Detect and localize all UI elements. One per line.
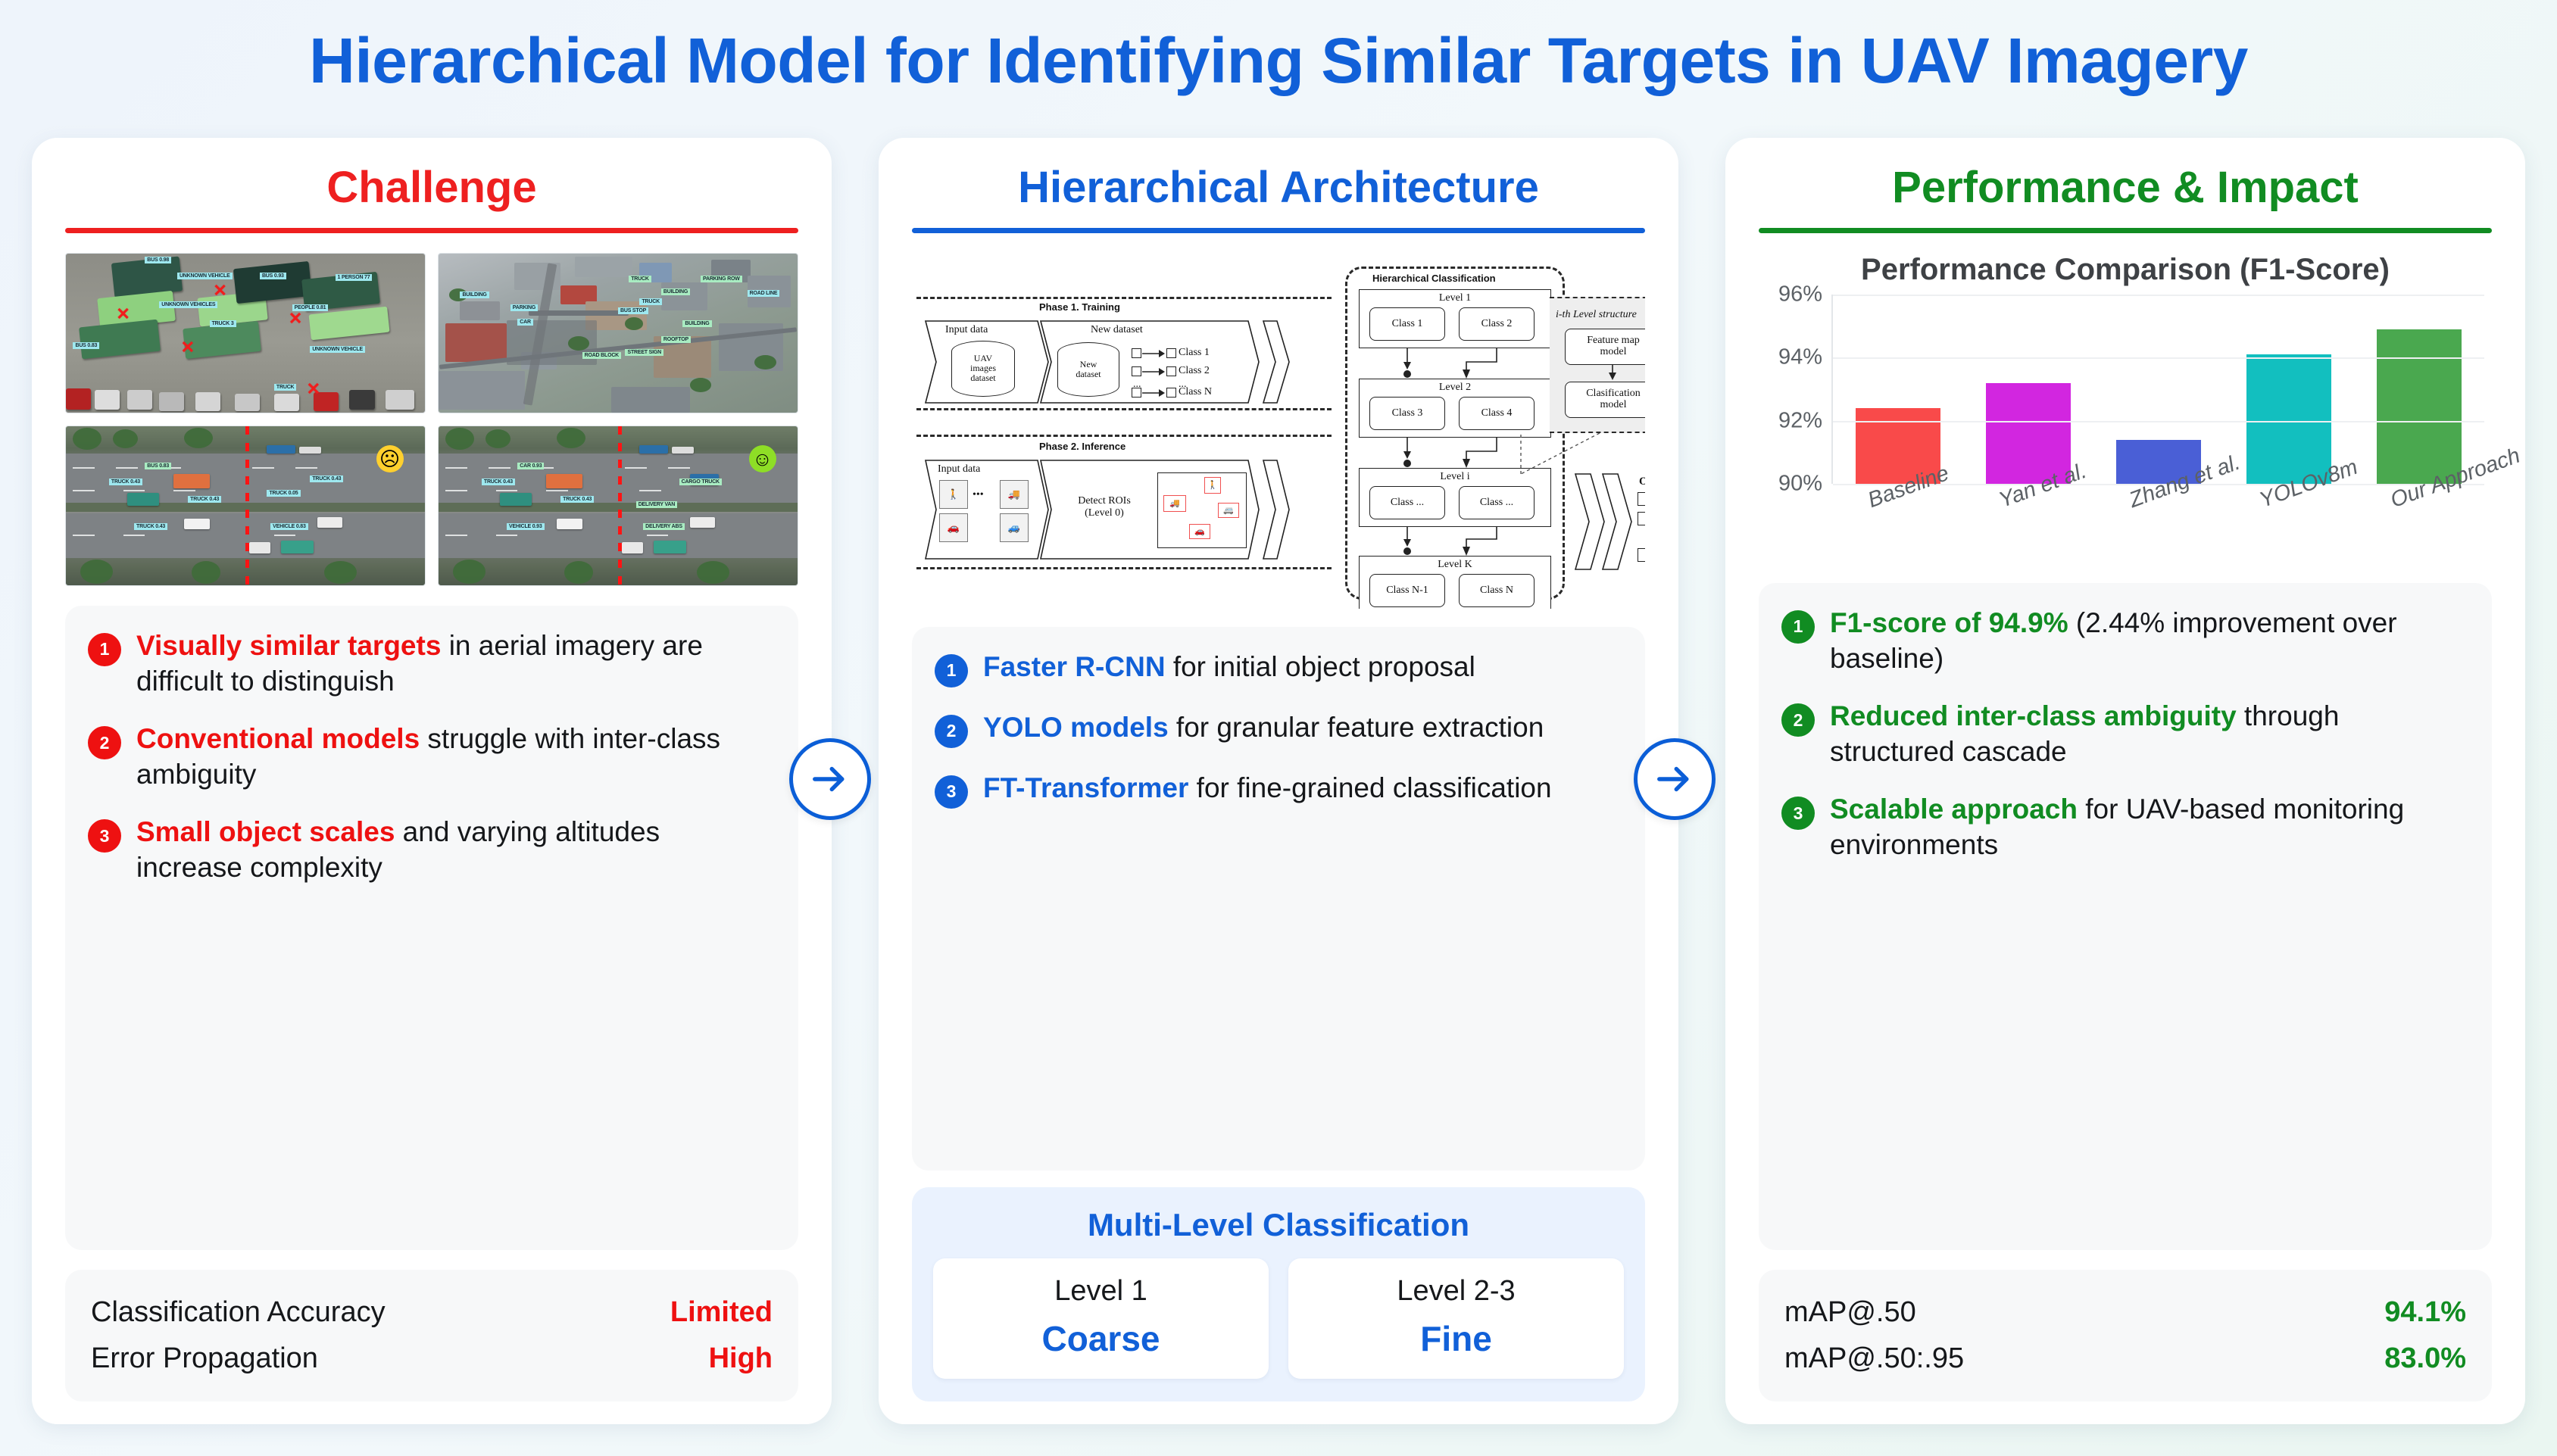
panel-challenge-rule	[65, 228, 798, 233]
icon-ellipsis: •••	[973, 489, 984, 501]
level-k-class-2: Class N	[1459, 574, 1535, 607]
class-square	[1132, 366, 1141, 376]
detection-tag: BUS STOP	[618, 307, 648, 314]
panel-performance-title: Performance & Impact	[1759, 165, 2492, 223]
bullet-number-badge: 1	[935, 654, 968, 687]
panel-architecture: Hierarchical Architecture Phase 1. Train…	[879, 138, 1678, 1424]
chart-y-tick: 92%	[1778, 408, 1833, 433]
uav-dataset-cylinder: UAVimagesdataset	[951, 341, 1015, 397]
performance-bullet-3: 3 Scalable approach for UAV-based monito…	[1781, 792, 2466, 862]
bullet-number-badge: 3	[88, 819, 121, 853]
chart-gridline	[1833, 295, 2484, 296]
class-square	[1166, 348, 1176, 358]
bullet-strong: YOLO models	[983, 712, 1169, 743]
detection-tag: BUILDING	[661, 288, 690, 295]
rejection-x-icon: ✕	[116, 306, 130, 323]
detection-tag: TRUCK	[639, 298, 662, 305]
phase1-label: Phase 1. Training	[1039, 301, 1120, 313]
architecture-bullet-3: 3 FT-Transformer for fine-grained classi…	[935, 771, 1619, 809]
roi-box: 🚶	[1204, 477, 1221, 494]
output-chevron-2	[1601, 472, 1634, 571]
bullet-strong: Visually similar targets	[136, 630, 441, 661]
ith-level-link-dotted	[1510, 433, 1601, 475]
bullet-number-badge: 3	[1781, 797, 1815, 830]
detection-tag: TRUCK 0.43	[134, 523, 167, 530]
performance-chart: Performance Comparison (F1-Score) 90%92%…	[1759, 253, 2492, 571]
chart-gridline	[1833, 421, 2484, 422]
phase1-out-chevron	[1262, 320, 1292, 404]
mlc-cards: Level 1 Coarse Level 2-3 Fine	[933, 1258, 1624, 1379]
bullet-strong: Small object scales	[136, 816, 395, 847]
bullet-text: Small object scales and varying altitude…	[136, 815, 773, 885]
stat-label: Classification Accuracy	[91, 1296, 386, 1329]
detection-tag: TRUCK 3	[210, 320, 236, 327]
stat-row: mAP@.50 94.1%	[1784, 1289, 2466, 1336]
feature-map-model-box: Feature mapmodel	[1565, 329, 1645, 365]
detection-tag: ROOFTOP	[661, 336, 691, 343]
page-title: Hierarchical Model for Identifying Simil…	[309, 24, 2248, 98]
bullet-strong: F1-score of 94.9%	[1830, 607, 2068, 638]
parking-lot-detections: BUS 0.98 UNKNOWN VEHICLE BUS 0.93 1 PERS…	[65, 253, 426, 413]
input-data-label-1: Input data	[945, 324, 988, 336]
connector-challenge-to-architecture[interactable]	[789, 738, 871, 820]
new-dataset-label: New dataset	[1091, 324, 1143, 336]
detection-tag: TRUCK 0.43	[188, 496, 221, 503]
level1-to-level2-arrows	[1397, 348, 1518, 380]
connector-architecture-to-performance[interactable]	[1634, 738, 1716, 820]
architecture-diagram: Phase 1. Training Input data UAVimagesda…	[912, 253, 1645, 609]
challenge-bullet-1: 1 Visually similar targets in aerial ima…	[88, 628, 773, 699]
roi-box: 🚚	[1163, 495, 1186, 512]
class-arrow-icon	[1142, 366, 1165, 377]
level-2-label: Level 2	[1359, 382, 1551, 394]
chart-bar	[2377, 329, 2462, 484]
performance-bullet-2: 2 Reduced inter-class ambiguity through …	[1781, 699, 2466, 769]
arrow-right-icon	[810, 759, 851, 800]
detection-tag: BUS 0.83	[145, 463, 171, 469]
output-square	[1638, 548, 1645, 562]
side-arrow-icon	[1607, 365, 1618, 382]
chart-bars	[1833, 295, 2484, 484]
architecture-bullet-1: 1 Faster R-CNN for initial object propos…	[935, 650, 1619, 687]
bullet-number-badge: 3	[935, 775, 968, 809]
detection-tag: DELIVERY ABS	[643, 523, 685, 530]
detection-tag: CAR 0.93	[517, 463, 544, 469]
bullet-number-badge: 2	[1781, 703, 1815, 737]
class-arrow-icon	[1142, 388, 1165, 398]
title-bar: Hierarchical Model for Identifying Simil…	[0, 0, 2557, 121]
mlc-card-kind: Fine	[1296, 1318, 1616, 1359]
rejection-x-icon: ✕	[213, 282, 226, 299]
highway-before-detections: BUS 0.83 TRUCK 0.43 TRUCK 0.43 TRUCK 0.4…	[65, 426, 426, 586]
level-i-class-2: Class ...	[1459, 486, 1535, 519]
level2-to-leveli-arrows	[1397, 438, 1518, 469]
pickup-icon-box: 🚙	[1000, 513, 1029, 542]
detection-tag: ROAD BLOCK	[582, 352, 621, 359]
person-icon-box: 🚶	[939, 480, 968, 509]
bullet-text: Conventional models struggle with inter-…	[136, 722, 773, 792]
class-square	[1132, 388, 1141, 398]
panel-challenge-title: Challenge	[65, 165, 798, 223]
highway-after-detections: CAR 0.93 TRUCK 0.43 TRUCK 0.43 VEHICLE 0…	[438, 426, 798, 586]
multi-level-classification: Multi-Level Classification Level 1 Coars…	[912, 1187, 1645, 1401]
architecture-bullets: 1 Faster R-CNN for initial object propos…	[912, 627, 1645, 1171]
panel-columns: Challenge	[32, 138, 2525, 1424]
rejection-x-icon: ✕	[181, 339, 195, 356]
truck-icon-box: 🚚	[1000, 480, 1029, 509]
panel-performance-rule	[1759, 228, 2492, 233]
detection-tag: PARKING	[510, 304, 538, 311]
detection-tag: TRUCK 0.43	[560, 496, 594, 503]
bullet-text: Visually similar targets in aerial image…	[136, 628, 773, 699]
panel-architecture-title: Hierarchical Architecture	[912, 165, 1645, 223]
bullet-strong: FT-Transformer	[983, 772, 1188, 803]
mlc-card-level: Level 2-3	[1296, 1275, 1616, 1308]
bullet-rest: for initial object proposal	[1166, 651, 1475, 682]
detection-tag: TRUCK	[274, 384, 297, 391]
happy-face-icon: ☺	[749, 445, 776, 472]
detection-tag: TRUCK 0.43	[109, 479, 142, 485]
leveli-to-levelk-arrows	[1397, 527, 1518, 557]
urban-aerial-detections: BUILDING PARKING CAR TRUCK BUILDING TRUC…	[438, 253, 798, 413]
panel-architecture-rule	[912, 228, 1645, 233]
stat-label: mAP@.50:.95	[1784, 1342, 1964, 1375]
challenge-stats: Classification Accuracy Limited Error Pr…	[65, 1270, 798, 1401]
stat-label: mAP@.50	[1784, 1296, 1916, 1329]
bullet-text: Reduced inter-class ambiguity through st…	[1830, 699, 2466, 769]
challenge-bullet-3: 3 Small object scales and varying altitu…	[88, 815, 773, 885]
challenge-bullets: 1 Visually similar targets in aerial ima…	[65, 606, 798, 1250]
sad-face-icon: ☹	[376, 445, 404, 472]
chart-y-tick: 90%	[1778, 471, 1833, 496]
hierarchical-classification-title: Hierarchical Classification	[1372, 273, 1496, 284]
detection-tag: VEHICLE 0.93	[507, 523, 545, 530]
bullet-strong: Conventional models	[136, 723, 420, 754]
class-square	[1132, 348, 1141, 358]
detection-tag: TRUCK 0.43	[310, 475, 343, 482]
panel-performance: Performance & Impact Performance Compari…	[1725, 138, 2525, 1424]
bullet-text: YOLO models for granular feature extract…	[983, 710, 1544, 746]
class-square	[1166, 366, 1176, 376]
level-2-class-2: Class 4	[1459, 397, 1535, 430]
detection-tag: UNKNOWN VEHICLE	[310, 346, 365, 353]
detection-tag: BUILDING	[460, 292, 489, 298]
chart-plot-area: 90%92%94%96%	[1831, 295, 2484, 484]
output-square	[1638, 492, 1645, 506]
comparison-divider	[618, 426, 622, 585]
chart-y-tick: 94%	[1778, 345, 1833, 370]
detection-tag: PARKING ROW	[701, 276, 742, 282]
comparison-divider	[245, 426, 249, 585]
bullet-strong: Scalable approach	[1830, 793, 2078, 825]
detection-tag: BUS 0.83	[73, 342, 99, 349]
detection-tag: TRUCK 0.05	[267, 490, 300, 497]
class-label: Class 1	[1179, 347, 1210, 359]
mlc-card-level: Level 1	[941, 1275, 1261, 1308]
chart-bar	[2246, 354, 2331, 484]
bullet-rest: for granular feature extraction	[1169, 712, 1544, 743]
stat-value: Limited	[670, 1296, 773, 1329]
chart-gridline	[1833, 357, 2484, 359]
detection-tag: UNKNOWN VEHICLES	[159, 301, 217, 308]
level-i-class-1: Class ...	[1369, 486, 1445, 519]
bullet-strong: Faster R-CNN	[983, 651, 1166, 682]
rejection-x-icon: ✕	[307, 381, 320, 398]
classification-model-box: Clasificationmodel	[1565, 382, 1645, 418]
bullet-number-badge: 1	[1781, 610, 1815, 644]
class-label: Class N	[1179, 386, 1212, 398]
phase2-label: Phase 2. Inference	[1039, 441, 1126, 452]
rejection-x-icon: ✕	[289, 310, 302, 327]
architecture-bullet-2: 2 YOLO models for granular feature extra…	[935, 710, 1619, 748]
output-label: Ou	[1639, 475, 1645, 488]
performance-bullets: 1 F1-score of 94.9% (2.44% improvement o…	[1759, 583, 2492, 1250]
bullet-number-badge: 2	[88, 726, 121, 759]
roi-box: 🚗	[1189, 524, 1210, 539]
bullet-number-badge: 2	[935, 715, 968, 748]
level-k-class-1: Class N-1	[1369, 574, 1445, 607]
detection-tag: STREET SIGN	[625, 349, 663, 356]
phase2-out-chevron	[1262, 459, 1292, 560]
bullet-strong: Reduced inter-class ambiguity	[1830, 700, 2237, 731]
output-square	[1638, 512, 1645, 525]
stat-value: High	[709, 1342, 773, 1375]
level-1-label: Level 1	[1359, 292, 1551, 304]
detection-tag: CAR	[517, 319, 533, 326]
class-square	[1166, 388, 1176, 398]
chart-title: Performance Comparison (F1-Score)	[1759, 253, 2492, 287]
panel-challenge: Challenge	[32, 138, 832, 1424]
mlc-card-coarse: Level 1 Coarse	[933, 1258, 1269, 1379]
bullet-text: F1-score of 94.9% (2.44% improvement ove…	[1830, 606, 2466, 676]
detection-tag: DELIVERY VAN	[636, 501, 677, 508]
level-2-class-1: Class 3	[1369, 397, 1445, 430]
detection-tag: CARGO TRUCK	[679, 479, 722, 485]
stat-row: mAP@.50:.95 83.0%	[1784, 1336, 2466, 1382]
arrow-right-icon	[1654, 759, 1695, 800]
roi-box: 🚐	[1218, 503, 1239, 518]
level-1-class-2: Class 2	[1459, 307, 1535, 341]
stat-value: 94.1%	[2384, 1296, 2466, 1329]
detection-tag: UNKNOWN VEHICLE	[177, 273, 233, 279]
detection-tag: TRUCK	[629, 276, 651, 282]
ith-level-structure-title: i-th Level structure	[1556, 309, 1637, 321]
car-icon-box: 🚗	[939, 513, 968, 542]
bullet-rest: for fine-grained classification	[1188, 772, 1551, 803]
class-arrow-icon	[1142, 348, 1165, 359]
detection-tag: TRUCK 0.43	[482, 479, 515, 485]
chart-y-tick: 96%	[1778, 282, 1833, 307]
mlc-title: Multi-Level Classification	[933, 1207, 1624, 1243]
challenge-bullet-2: 2 Conventional models struggle with inte…	[88, 722, 773, 792]
performance-stats: mAP@.50 94.1% mAP@.50:.95 83.0%	[1759, 1270, 2492, 1401]
detection-tag: BUS 0.93	[260, 273, 286, 279]
chart-x-labels: BaselineYan et al.Zhang et al.YOLOv8mOur…	[1831, 484, 2484, 567]
detection-tag: 1 PERSON 77	[336, 274, 373, 281]
stat-label: Error Propagation	[91, 1342, 318, 1375]
new-dataset-cylinder: Newdataset	[1057, 342, 1119, 397]
level-1-class-1: Class 1	[1369, 307, 1445, 341]
mlc-card-kind: Coarse	[941, 1318, 1261, 1359]
bullet-text: Faster R-CNN for initial object proposal	[983, 650, 1475, 685]
detection-tag: BUS 0.98	[145, 257, 171, 263]
mlc-card-fine: Level 2-3 Fine	[1288, 1258, 1624, 1379]
class-label: Class 2	[1179, 365, 1210, 377]
detect-rois-label: Detect ROIs(Level 0)	[1059, 495, 1150, 519]
stat-value: 83.0%	[2384, 1342, 2466, 1375]
bullet-text: Scalable approach for UAV-based monitori…	[1830, 792, 2466, 862]
detection-tag: BUILDING	[682, 320, 711, 327]
stat-row: Classification Accuracy Limited	[91, 1289, 773, 1336]
bullet-number-badge: 1	[88, 633, 121, 666]
detection-tag: VEHICLE 0.83	[270, 523, 308, 530]
level-k-label: Level K	[1359, 559, 1551, 571]
detection-tag: ROAD LINE	[748, 290, 780, 297]
input-data-label-2: Input data	[938, 463, 980, 475]
stat-row: Error Propagation High	[91, 1336, 773, 1382]
performance-bullet-1: 1 F1-score of 94.9% (2.44% improvement o…	[1781, 606, 2466, 676]
bullet-text: FT-Transformer for fine-grained classifi…	[983, 771, 1552, 806]
challenge-image-grid: BUS 0.98 UNKNOWN VEHICLE BUS 0.93 1 PERS…	[65, 253, 798, 586]
